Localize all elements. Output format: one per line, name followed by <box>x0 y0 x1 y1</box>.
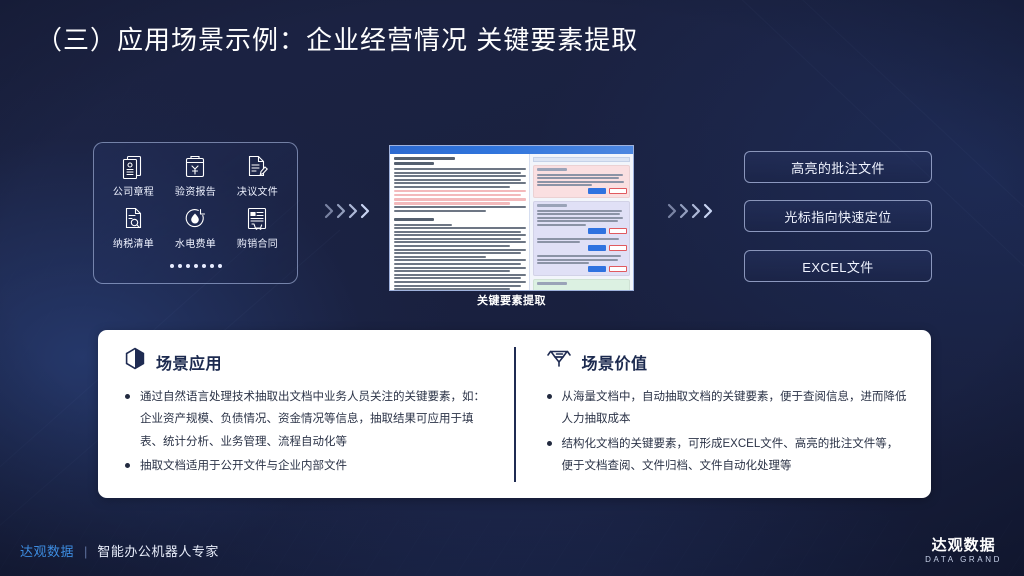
funnel-diamond-icon <box>546 347 572 376</box>
dot <box>210 264 214 268</box>
output-button-cursor-quick-locate[interactable]: 光标指向快速定位 <box>744 200 932 232</box>
annotation-card-pink[interactable] <box>533 165 630 198</box>
flow-arrow-left <box>322 201 378 221</box>
output-button-label: 高亮的批注文件 <box>791 158 885 177</box>
doc-type-label: 购销合同 <box>237 235 278 250</box>
document-types-panel: 公司章程 验资报告 决议文件 <box>93 142 298 284</box>
annotation-card-lavender[interactable] <box>533 201 630 276</box>
doc-type-label: 公司章程 <box>113 183 154 198</box>
annotation-reject-button[interactable] <box>609 188 627 194</box>
doc-heading-line <box>394 157 455 160</box>
doc-type-label: 验资报告 <box>175 183 216 198</box>
output-button-highlighted-annotation-file[interactable]: 高亮的批注文件 <box>744 151 932 183</box>
footer-tagline: 智能办公机器人专家 <box>97 541 219 560</box>
preview-caption: 关键要素提取 <box>389 292 634 308</box>
page-title: （三）应用场景示例：企业经营情况 关键要素提取 <box>36 20 638 57</box>
document-pen-icon <box>245 154 269 180</box>
footer-logo-cn: 达观数据 <box>925 537 1002 554</box>
output-button-label: EXCEL文件 <box>802 257 873 276</box>
annotation-confirm-button[interactable] <box>588 266 606 272</box>
doc-type-label: 水电费单 <box>175 235 216 250</box>
doc-type-label: 决议文件 <box>237 183 278 198</box>
flow-arrow-right <box>665 201 721 221</box>
dot <box>218 264 222 268</box>
scenario-value-bullets: 从海量文档中，自动抽取文档的关键要素，便于查阅信息，进而降低人力抽取成本 结构化… <box>546 386 910 478</box>
more-items-dots <box>170 264 222 268</box>
annotation-confirm-button[interactable] <box>588 228 606 234</box>
id-document-icon <box>121 154 145 180</box>
preview-toolbar <box>390 146 633 154</box>
dot <box>178 264 182 268</box>
scenario-application-bullets: 通过自然语言处理技术抽取出文档中业务人员关注的关键要素，如：企业资产规模、负债情… <box>124 386 492 478</box>
annotation-confirm-button[interactable] <box>588 188 606 194</box>
annotation-reject-button[interactable] <box>609 245 627 251</box>
doc-type-item-tax-list[interactable]: 纳税清单 <box>113 206 154 258</box>
document-types-grid: 公司章程 验资报告 决议文件 <box>103 154 289 258</box>
document-magnifier-icon <box>121 206 145 232</box>
doc-type-label: 纳税清单 <box>113 235 154 250</box>
annotation-card-green[interactable] <box>533 279 630 290</box>
doc-type-item-utility-bill[interactable]: 水电费单 <box>175 206 216 258</box>
list-item: 通过自然语言处理技术抽取出文档中业务人员关注的关键要素，如：企业资产规模、负债情… <box>124 386 492 453</box>
footer-brand: 达观数据 <box>20 541 74 560</box>
doc-heading-line <box>394 162 434 165</box>
doc-type-item-company-charter[interactable]: 公司章程 <box>113 154 154 206</box>
dot <box>194 264 198 268</box>
preview-document-text <box>390 154 530 290</box>
cube-icon <box>124 347 146 376</box>
footer-brand-group: 达观数据 | 智能办公机器人专家 <box>20 541 219 560</box>
dot <box>202 264 206 268</box>
footer-logo: 达观数据 DATA GRAND <box>925 537 1002 564</box>
list-item: 从海量文档中，自动抽取文档的关键要素，便于查阅信息，进而降低人力抽取成本 <box>546 386 910 431</box>
list-item: 抽取文档适用于公开文件与企业内部文件 <box>124 455 492 477</box>
scenario-value-column: 场景价值 从海量文档中，自动抽取文档的关键要素，便于查阅信息，进而降低人力抽取成… <box>516 330 932 498</box>
contract-cart-icon <box>245 206 269 232</box>
footer-logo-en: DATA GRAND <box>925 555 1002 564</box>
annotation-reject-button[interactable] <box>609 228 627 234</box>
preview-annotation-panel <box>530 154 633 290</box>
doc-type-item-capital-verification-report[interactable]: 验资报告 <box>175 154 216 206</box>
scenario-value-title: 场景价值 <box>582 350 648 374</box>
dot <box>186 264 190 268</box>
dot <box>170 264 174 268</box>
list-item: 结构化文档的关键要素，可形成EXCEL文件、高亮的批注文件等，便于文档查阅、文件… <box>546 433 910 478</box>
preview-body <box>390 154 633 290</box>
info-card: 场景应用 通过自然语言处理技术抽取出文档中业务人员关注的关键要素，如：企业资产规… <box>98 330 931 498</box>
document-preview-screenshot[interactable] <box>389 145 634 291</box>
doc-type-item-resolution-document[interactable]: 决议文件 <box>237 154 278 206</box>
scenario-value-header: 场景价值 <box>546 347 910 376</box>
output-button-label: 光标指向快速定位 <box>784 207 891 226</box>
water-drop-circle-icon <box>183 206 207 232</box>
doc-heading-line <box>394 218 434 221</box>
output-button-excel-file[interactable]: EXCEL文件 <box>744 250 932 282</box>
scenario-application-column: 场景应用 通过自然语言处理技术抽取出文档中业务人员关注的关键要素，如：企业资产规… <box>98 330 514 498</box>
scenario-application-header: 场景应用 <box>124 347 492 376</box>
annotation-reject-button[interactable] <box>609 266 627 272</box>
scenario-application-title: 场景应用 <box>156 350 222 374</box>
doc-type-item-purchase-sales-contract[interactable]: 购销合同 <box>237 206 278 258</box>
annotation-confirm-button[interactable] <box>588 245 606 251</box>
clipboard-yuan-icon <box>183 154 207 180</box>
annotation-panel-header <box>533 157 630 162</box>
footer-separator: | <box>84 544 87 559</box>
